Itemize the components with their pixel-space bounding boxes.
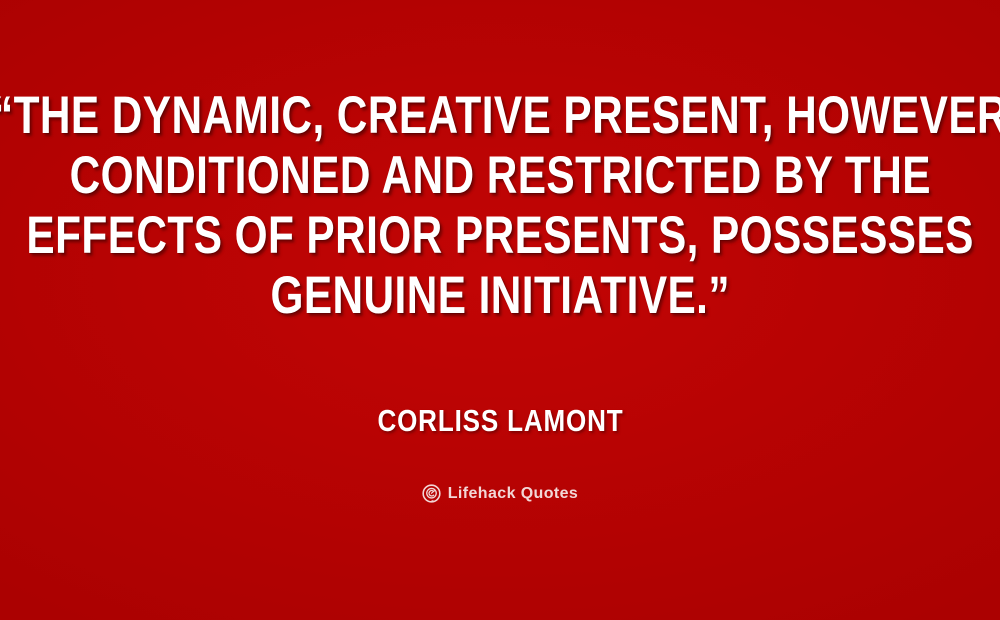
quote-line: CONDITIONED AND RESTRICTED BY THE <box>69 146 930 206</box>
quote-line: EFFECTS OF PRIOR PRESENTS, POSSESSES <box>26 206 973 266</box>
quote-author: CORLISS LAMONT <box>377 404 623 438</box>
quote-text-block: “THE DYNAMIC, CREATIVE PRESENT, HOWEVER … <box>50 86 950 326</box>
lifehack-circle-logo-icon <box>422 484 441 503</box>
brand-name: Lifehack Quotes <box>448 484 578 503</box>
brand-watermark: Lifehack Quotes <box>422 484 578 503</box>
quote-card: “THE DYNAMIC, CREATIVE PRESENT, HOWEVER … <box>0 0 1000 620</box>
quote-line: “THE DYNAMIC, CREATIVE PRESENT, HOWEVER <box>0 86 1000 146</box>
quote-line: GENUINE INITIATIVE.” <box>270 266 730 326</box>
